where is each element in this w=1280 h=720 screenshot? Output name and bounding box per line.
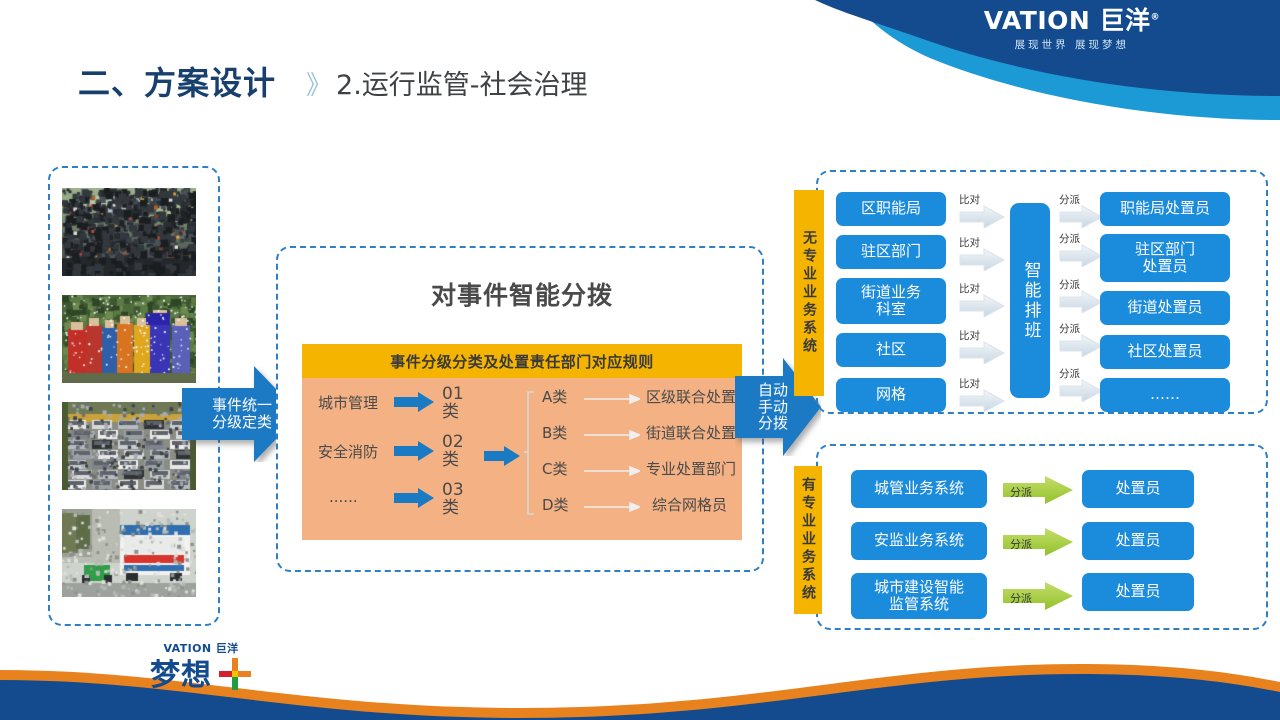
page-title-main: 二、方案设计: [78, 58, 276, 104]
footer-logo-main: 梦想: [150, 661, 212, 691]
compare-arrow-1: 比对: [958, 237, 1006, 275]
no-specialized-system-label: 无专业业务系统: [794, 190, 824, 396]
green-assign-arrow-0-label: 分派: [1010, 484, 1032, 500]
target-box-3-label: 社区处置员: [1127, 343, 1202, 360]
arrow-in-line-1: 分级定类: [212, 414, 272, 431]
compare-arrow-2: 比对: [958, 283, 1006, 321]
assign-arrow-2: 分派: [1058, 279, 1104, 317]
target-box-2-label: 街道处置员: [1127, 299, 1202, 316]
assign-arrow-1: 分派: [1058, 233, 1104, 271]
compare-arrow-1-label: 比对: [959, 235, 980, 250]
green-assign-arrow-0: 分派: [1003, 475, 1075, 509]
dept-label-0: 区级联合处置: [646, 386, 736, 407]
dept-label-2: 专业处置部门: [646, 458, 736, 479]
assign-arrow-1-label: 分派: [1059, 231, 1080, 246]
source-box-1[interactable]: 驻区部门: [836, 235, 946, 269]
green-assign-arrow-2: 分派: [1003, 581, 1075, 615]
footer-brand-logo: VATION 巨洋 梦想: [150, 643, 252, 694]
chevron-right-icon: 》: [306, 65, 332, 102]
handler-box-1-label: 处置员: [1115, 532, 1160, 549]
compare-arrow-4: 比对: [958, 378, 1006, 416]
grade-brace-icon: [524, 390, 538, 520]
green-assign-arrow-2-label: 分派: [1010, 590, 1032, 606]
category-code-1: 02类: [442, 434, 468, 470]
dept-label-1: 街道联合处置: [646, 422, 736, 443]
page-title: 二、方案设计 》 2.运行监管-社会治理: [78, 58, 588, 104]
biz-system-box-2[interactable]: 城市建设智能监管系统: [851, 573, 987, 619]
source-box-0-label: 区职能局: [861, 200, 921, 217]
target-box-3[interactable]: 社区处置员: [1100, 335, 1230, 369]
assign-arrow-3-label: 分派: [1059, 321, 1080, 336]
specialized-system-label: 有专业业务系统: [794, 466, 822, 614]
compare-arrow-2-label: 比对: [959, 281, 980, 296]
target-box-2[interactable]: 街道处置员: [1100, 291, 1230, 325]
category-name-2: ......: [329, 488, 358, 506]
arrow-out-line-1: 手动: [758, 399, 788, 416]
category-name-1: 安全消防: [318, 441, 378, 462]
page-title-sub: 2.运行监管-社会治理: [336, 63, 588, 102]
category-code-2: 03类: [442, 482, 468, 518]
handler-box-2[interactable]: 处置员: [1082, 573, 1194, 611]
grade-label-0: A类: [542, 386, 567, 407]
event-photo-0: [62, 188, 196, 276]
source-box-3-label: 社区: [876, 341, 906, 358]
target-box-4[interactable]: ……: [1100, 378, 1230, 412]
arrow-right-icon-cat-0: [394, 392, 434, 416]
target-box-1-label: 驻区部门处置员: [1135, 241, 1195, 276]
target-box-0[interactable]: 职能局处置员: [1100, 192, 1230, 226]
brand-logo: VATION 巨洋® 展现世界 展现梦想: [984, 8, 1160, 51]
connector-line-1: [584, 426, 640, 445]
grade-label-3: D类: [542, 494, 569, 515]
compare-arrow-3: 比对: [958, 330, 1006, 368]
source-box-2[interactable]: 街道业务科室: [836, 278, 946, 324]
dept-label-3: 综合网格员: [652, 494, 727, 515]
target-box-4-label: ……: [1150, 386, 1180, 403]
footer-logo-top: VATION 巨洋: [150, 643, 252, 654]
green-assign-arrow-1: 分派: [1003, 527, 1075, 561]
connector-line-3: [584, 498, 640, 517]
source-box-4-label: 网格: [876, 386, 906, 403]
rules-header-label: 事件分级分类及处置责任部门对应规则: [302, 344, 742, 378]
arrow-out-line-2: 分拨: [758, 415, 788, 432]
source-box-1-label: 驻区部门: [861, 243, 921, 260]
event-photo-3: [62, 509, 196, 597]
grade-label-1: B类: [542, 422, 567, 443]
assign-arrow-0-label: 分派: [1059, 192, 1080, 207]
arrow-right-icon-to-grades: [484, 446, 520, 470]
rules-body: 城市管理 安全消防 ...... 01类 02类 03类: [302, 378, 742, 540]
center-panel-title: 对事件智能分拨: [278, 276, 766, 312]
event-photo-2: [62, 402, 196, 490]
biz-system-box-2-label: 城市建设智能监管系统: [874, 579, 964, 614]
grade-label-2: C类: [542, 458, 567, 479]
compare-arrow-0-label: 比对: [959, 192, 980, 207]
brand-logo-tagline: 展现世界 展现梦想: [984, 40, 1160, 51]
category-name-0: 城市管理: [318, 392, 378, 413]
connector-line-2: [584, 462, 640, 481]
source-box-4[interactable]: 网格: [836, 378, 946, 412]
event-photo-1: [62, 295, 196, 383]
biz-system-box-1-label: 安监业务系统: [874, 532, 964, 549]
source-box-0[interactable]: 区职能局: [836, 192, 946, 226]
handler-box-1[interactable]: 处置员: [1082, 522, 1194, 560]
assign-arrow-0: 分派: [1058, 194, 1104, 232]
scheduling-engine-bar[interactable]: 智能排班: [1010, 203, 1050, 398]
classification-rules-box: 事件分级分类及处置责任部门对应规则 城市管理 安全消防 ...... 01类 0…: [302, 344, 742, 540]
source-box-3[interactable]: 社区: [836, 333, 946, 367]
biz-system-box-0[interactable]: 城管业务系统: [851, 470, 987, 508]
assign-arrow-4-label: 分派: [1059, 366, 1080, 381]
brand-logo-name: VATION 巨洋®: [984, 8, 1160, 33]
assign-arrow-4: 分派: [1058, 368, 1104, 406]
target-box-0-label: 职能局处置员: [1120, 200, 1210, 217]
biz-system-box-1[interactable]: 安监业务系统: [851, 522, 987, 560]
intelligent-dispatch-panel: 对事件智能分拨 事件分级分类及处置责任部门对应规则 城市管理 安全消防 ....…: [276, 246, 764, 572]
connector-line-0: [584, 390, 640, 409]
assign-arrow-2-label: 分派: [1059, 277, 1080, 292]
arrow-out-line-0: 自动: [758, 382, 788, 399]
handler-box-0[interactable]: 处置员: [1082, 470, 1194, 508]
handler-box-2-label: 处置员: [1115, 583, 1160, 600]
source-box-2-label: 街道业务科室: [861, 284, 921, 319]
handler-box-0-label: 处置员: [1115, 480, 1160, 497]
compare-arrow-3-label: 比对: [959, 328, 980, 343]
compare-arrow-0: 比对: [958, 194, 1006, 232]
target-box-1[interactable]: 驻区部门处置员: [1100, 234, 1230, 282]
scheduling-engine-label: 智能排班: [1022, 261, 1039, 341]
category-code-0: 01类: [442, 386, 468, 422]
registered-mark-icon: ®: [1151, 13, 1161, 23]
green-assign-arrow-1-label: 分派: [1010, 536, 1032, 552]
biz-system-box-0-label: 城管业务系统: [874, 480, 964, 497]
pinwheel-plus-icon: [218, 657, 252, 694]
slide-root: VATION 巨洋® 展现世界 展现梦想 二、方案设计 》 2.运行监管-社会治…: [0, 0, 1280, 720]
arrow-in-line-0: 事件统一: [212, 397, 272, 414]
assign-arrow-3: 分派: [1058, 323, 1104, 361]
compare-arrow-4-label: 比对: [959, 376, 980, 391]
arrow-right-icon-cat-2: [394, 488, 434, 512]
arrow-right-icon-cat-1: [394, 441, 434, 465]
